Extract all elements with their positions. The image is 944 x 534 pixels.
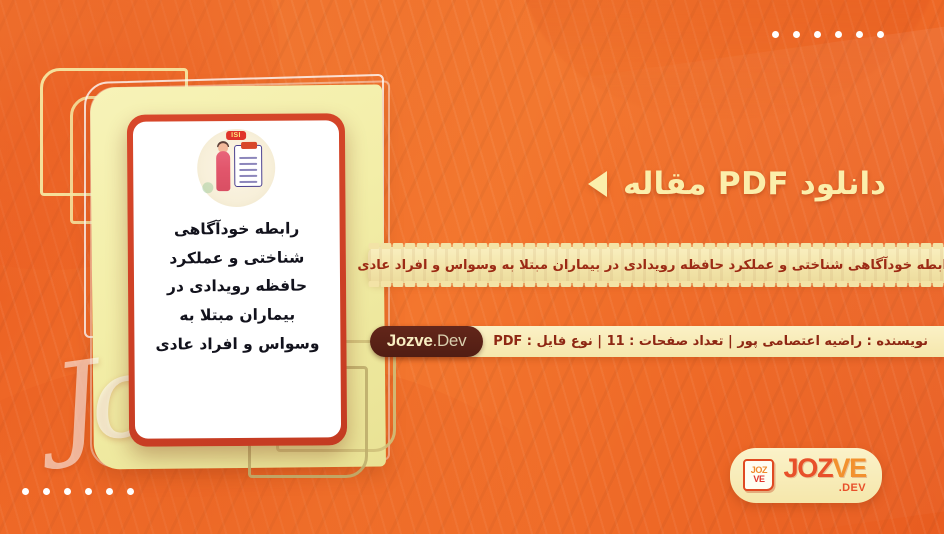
article-cover-title: رابطه خودآگاهی شناختی و عملکرد حافظه روی… — [155, 214, 320, 359]
jozve-dev-logo[interactable]: JOZ VE JOZVE .DEV — [730, 448, 882, 503]
article-meta-text: نویسنده : راضیه اعتصامی پور | تعداد صفحا… — [483, 334, 928, 349]
dot — [64, 488, 71, 495]
cover-title-line-1: رابطه خودآگاهی — [155, 214, 319, 244]
jozve-badge-suffix: .Dev — [433, 331, 467, 351]
clipboard-line — [239, 181, 257, 183]
clipboard-line — [239, 175, 257, 177]
dot-row-bottom-left — [22, 488, 134, 495]
illustration-accent-dot — [202, 182, 213, 193]
isi-badge: ISI — [226, 131, 246, 140]
notepad-icon-line-2: VE — [753, 475, 764, 484]
jozve-dev-badge[interactable]: Jozve .Dev — [370, 326, 484, 357]
download-headline-row[interactable]: دانلود PDF مقاله — [588, 166, 886, 202]
article-meta-pill: نویسنده : راضیه اعتصامی پور | تعداد صفحا… — [374, 326, 944, 357]
article-subtitle-ribbon: رابطه خودآگاهی شناختی و عملکرد حافظه روی… — [368, 247, 944, 283]
person-body-icon — [216, 151, 230, 191]
logo-wordmark-main: JOZVE — [783, 456, 866, 482]
logo-wordmark-part-b: VE — [832, 453, 866, 483]
logo-wordmark-suffix: .DEV — [839, 483, 866, 494]
page-title: دانلود PDF مقاله — [623, 166, 886, 202]
article-cover[interactable]: ISI رابطه خودآگاهی شناختی و عم — [127, 113, 347, 447]
dot — [22, 488, 29, 495]
cover-title-line-5: وسواس و افراد عادی — [155, 329, 319, 359]
notepad-icon: JOZ VE — [743, 459, 774, 491]
dot — [85, 488, 92, 495]
dot — [43, 488, 50, 495]
cover-title-line-2: شناختی و عملکرد — [155, 243, 319, 273]
article-illustration: ISI — [197, 129, 276, 208]
logo-wordmark-part-a: JOZ — [783, 453, 832, 483]
play-triangle-left-icon — [588, 171, 607, 197]
clipboard-line — [239, 169, 257, 171]
clipboard-line — [239, 163, 257, 165]
jozve-badge-name: Jozve — [387, 331, 433, 351]
pdf-download-banner: Jozve ISI — [0, 0, 944, 534]
dot — [127, 488, 134, 495]
clipboard-icon — [234, 145, 262, 187]
cover-title-line-3: حافظه رویدادی در — [155, 272, 319, 302]
article-subtitle: رابطه خودآگاهی شناختی و عملکرد حافظه روی… — [347, 258, 944, 273]
dot — [106, 488, 113, 495]
cover-title-line-4: بیماران مبتلا به — [155, 300, 319, 330]
clipboard-line — [239, 157, 257, 159]
logo-wordmark: JOZVE .DEV — [783, 456, 866, 494]
article-cover-page: ISI رابطه خودآگاهی شناختی و عم — [133, 120, 341, 438]
